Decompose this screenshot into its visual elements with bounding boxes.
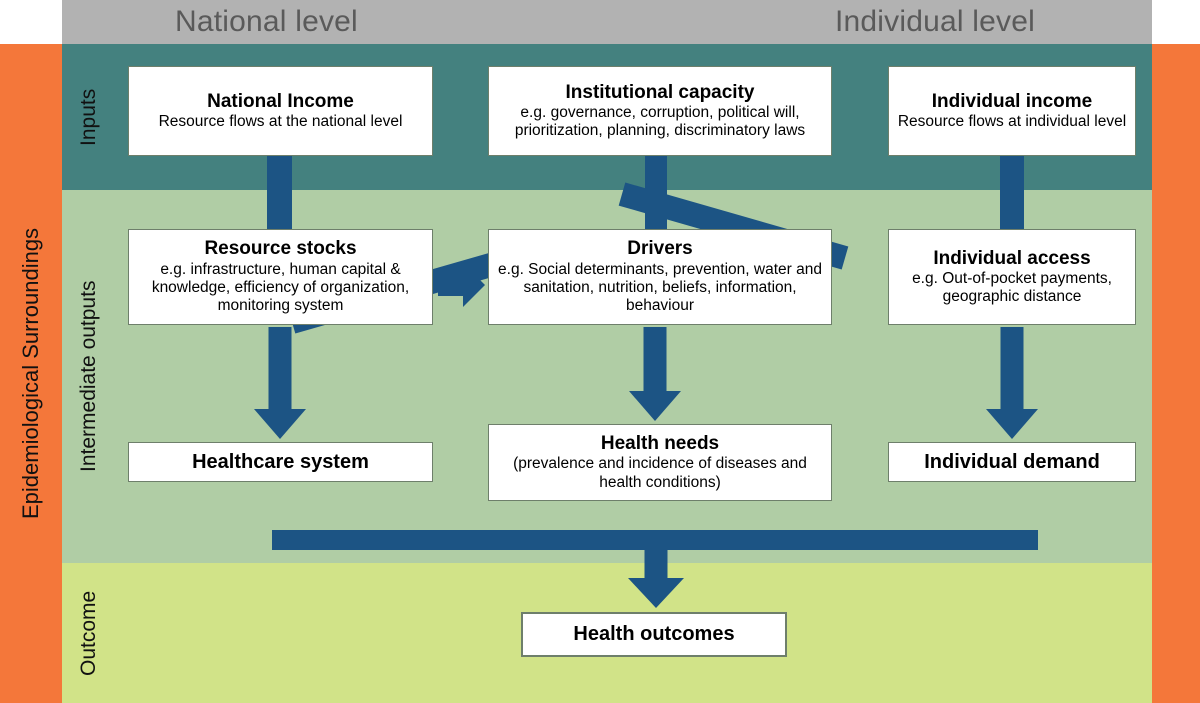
box-subtitle: Resource flows at the national level <box>159 113 403 131</box>
box-title: Resource stocks <box>204 238 356 259</box>
connector-institutional-capacity-down <box>645 156 667 231</box>
box-subtitle: e.g. infrastructure, human capital & kno… <box>137 261 424 316</box>
arrow-shaft <box>1001 327 1024 411</box>
box-title: Institutional capacity <box>566 82 755 103</box>
box-individual-demand[interactable]: Individual demand <box>888 442 1136 482</box>
box-drivers[interactable]: Drivers e.g. Social determinants, preven… <box>488 229 832 325</box>
box-health-outcomes[interactable]: Health outcomes <box>521 612 787 657</box>
arrow-shaft <box>644 327 667 393</box>
label-row-outcome: Outcome <box>64 563 114 703</box>
box-subtitle: e.g. governance, corruption, political w… <box>497 104 823 141</box>
arrow-individual-access-to-individual-demand <box>986 327 1038 439</box>
box-title: Health outcomes <box>573 623 734 645</box>
box-institutional-capacity[interactable]: Institutional capacity e.g. governance, … <box>488 66 832 156</box>
box-healthcare-system[interactable]: Healthcare system <box>128 442 433 482</box>
box-individual-income[interactable]: Individual income Resource flows at indi… <box>888 66 1136 156</box>
arrow-to-health-outcomes <box>628 550 684 608</box>
header-national-level: National level <box>175 0 358 44</box>
bracket-to-health-outcomes <box>272 530 1038 550</box>
arrow-shaft <box>438 274 464 296</box>
box-subtitle: (prevalence and incidence of diseases an… <box>497 455 823 492</box>
arrow-head <box>986 409 1038 439</box>
header-individual-level: Individual level <box>835 0 1035 44</box>
box-title: Individual demand <box>924 451 1100 473</box>
connector-individual-income-down <box>1000 156 1024 231</box>
label-epidemiological-surroundings: Epidemiological Surroundings <box>0 44 62 703</box>
arrow-head <box>254 409 306 439</box>
box-health-needs[interactable]: Health needs (prevalence and incidence o… <box>488 424 832 501</box>
diagram-canvas: National level Individual level Epidemio… <box>0 0 1200 703</box>
box-individual-access[interactable]: Individual access e.g. Out-of-pocket pay… <box>888 229 1136 325</box>
box-subtitle: e.g. Social determinants, prevention, wa… <box>497 261 823 316</box>
box-subtitle: Resource flows at individual level <box>898 113 1126 131</box>
box-title: National Income <box>207 91 354 112</box>
box-subtitle: e.g. Out-of-pocket payments, geographic … <box>897 270 1127 307</box>
surroundings-band-right <box>1152 44 1200 703</box>
box-title: Individual access <box>933 248 1090 269</box>
arrow-head <box>463 263 485 307</box>
arrow-resource-stocks-to-healthcare-system <box>254 327 306 439</box>
label-row-inputs: Inputs <box>64 44 114 190</box>
arrow-resource-stocks-to-drivers <box>438 263 485 307</box>
box-resource-stocks[interactable]: Resource stocks e.g. infrastructure, hum… <box>128 229 433 325</box>
arrow-head <box>628 578 684 608</box>
box-title: Health needs <box>601 433 719 454</box>
arrow-drivers-to-health-needs <box>629 327 681 421</box>
arrow-shaft <box>645 550 668 580</box>
arrow-head <box>629 391 681 421</box>
box-title: Healthcare system <box>192 451 369 473</box>
box-title: Individual income <box>932 91 1092 112</box>
connector-national-income-down <box>267 156 292 231</box>
box-title: Drivers <box>627 238 693 259</box>
arrow-shaft <box>269 327 292 411</box>
label-row-intermediate-outputs: Intermediate outputs <box>64 190 114 563</box>
box-national-income[interactable]: National Income Resource flows at the na… <box>128 66 433 156</box>
